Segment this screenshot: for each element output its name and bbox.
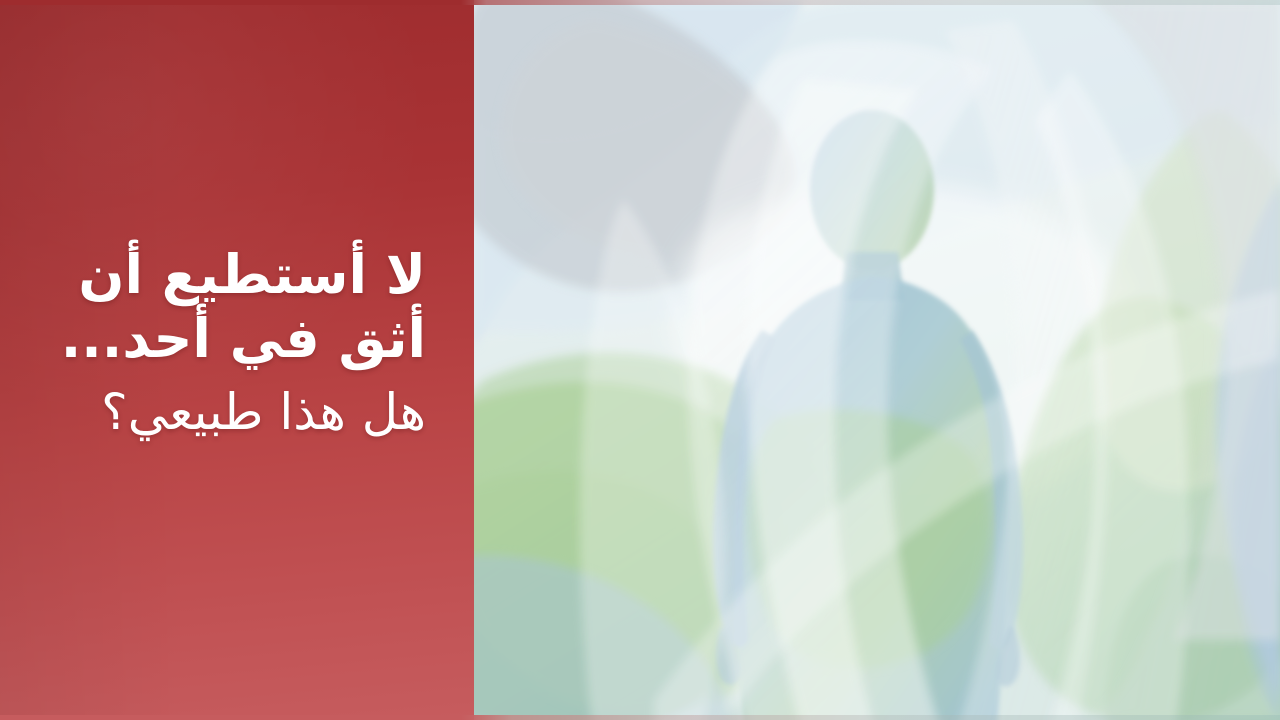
art-haze xyxy=(474,0,1280,720)
headline-line-2: أثق في أحد... xyxy=(30,310,426,368)
slide-root: لا أستطيع أن أثق في أحد... هل هذا طبيعي؟ xyxy=(0,0,1280,720)
illustration-panel xyxy=(474,0,1280,720)
headline-line-1: لا أستطيع أن xyxy=(30,246,426,304)
headline-panel: لا أستطيع أن أثق في أحد... هل هذا طبيعي؟ xyxy=(0,0,474,720)
illustration-artwork xyxy=(474,0,1280,720)
headline-line-3: هل هذا طبيعي؟ xyxy=(30,385,426,439)
headline-block: لا أستطيع أن أثق في أحد... هل هذا طبيعي؟ xyxy=(0,246,474,439)
